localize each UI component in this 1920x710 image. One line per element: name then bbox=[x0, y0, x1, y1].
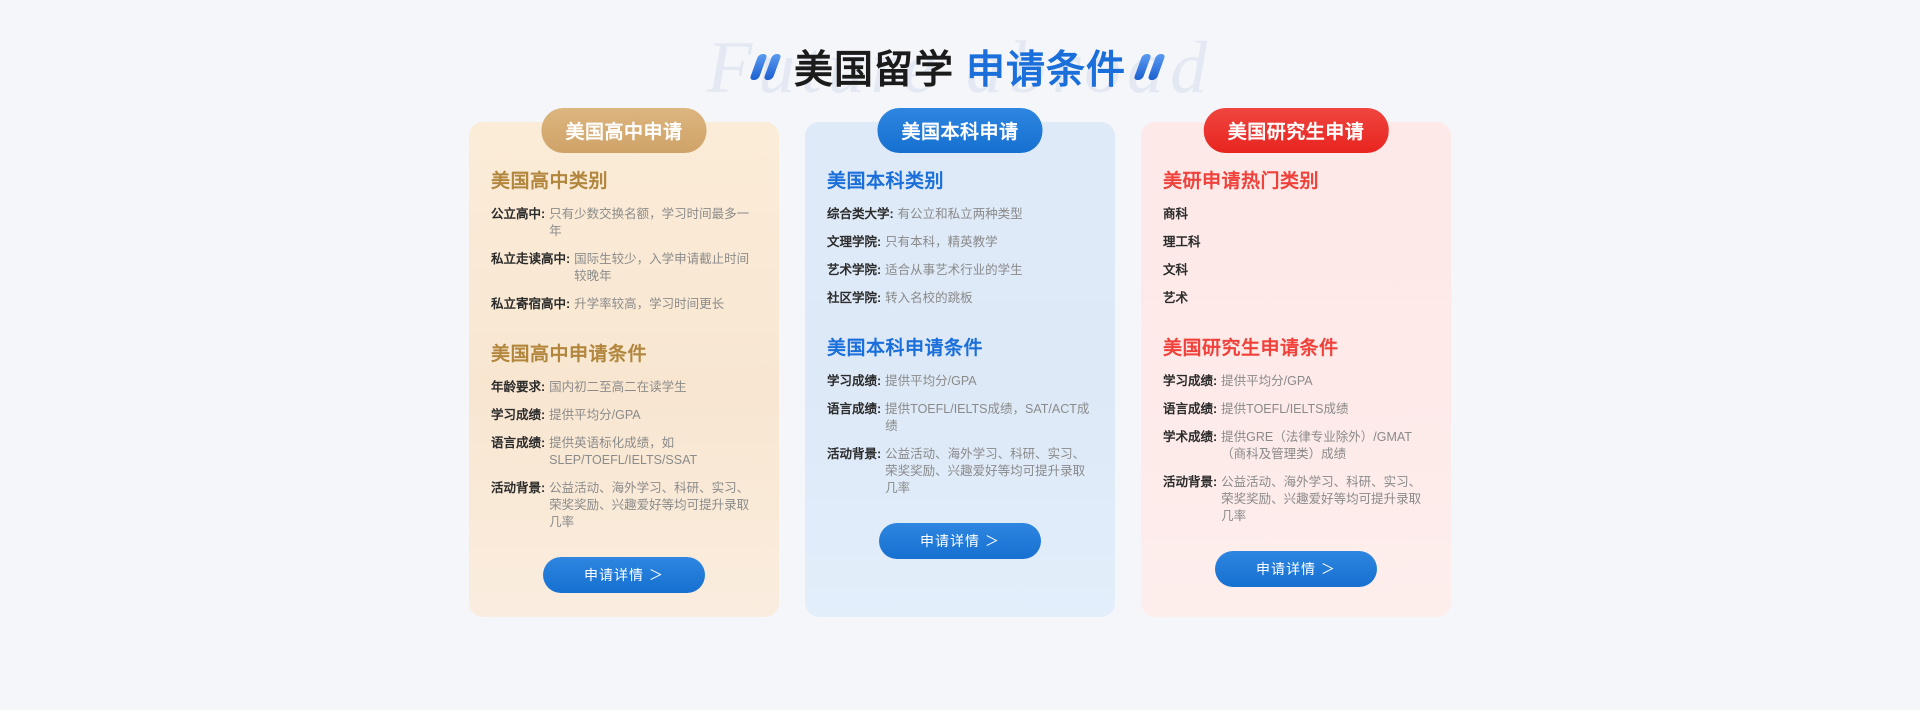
list-item: 文理学院:只有本科，精英教学 bbox=[827, 234, 1093, 251]
list-item-key: 语言成绩: bbox=[827, 401, 881, 435]
list-item-value: 提供GRE（法律专业除外）/GMAT（商科及管理类）成绩 bbox=[1217, 429, 1429, 463]
page-root: Future abroad 美国留学 申请条件 美国高中申请美国高中类别公立高中… bbox=[0, 0, 1920, 710]
list-item-key: 综合类大学: bbox=[827, 206, 894, 223]
list-item-value: 提供英语标化成绩，如SLEP/TOEFL/IELTS/SSAT bbox=[545, 435, 757, 469]
section-title: 美国研究生申请条件 bbox=[1163, 333, 1429, 360]
list-item-key: 艺术 bbox=[1163, 290, 1188, 307]
list-item-key: 文理学院: bbox=[827, 234, 881, 251]
list-item-key: 活动背景: bbox=[1163, 474, 1217, 525]
card-badge[interactable]: 美国研究生申请 bbox=[1204, 108, 1389, 153]
page-title-main: 美国留学 bbox=[794, 39, 954, 95]
list-item-key: 语言成绩: bbox=[491, 435, 545, 469]
list-item-value: 国内初二至高二在读学生 bbox=[545, 379, 687, 396]
list-item-key: 活动背景: bbox=[827, 446, 881, 497]
list-item-key: 年龄要求: bbox=[491, 379, 545, 396]
list-item: 私立寄宿高中:升学率较高，学习时间更长 bbox=[491, 296, 757, 313]
list-item: 学术成绩:提供GRE（法律专业除外）/GMAT（商科及管理类）成绩 bbox=[1163, 429, 1429, 463]
card-badge[interactable]: 美国高中申请 bbox=[541, 108, 706, 153]
list-item-key: 学习成绩: bbox=[1163, 373, 1217, 390]
list-item: 文科 bbox=[1163, 262, 1429, 279]
apply-details-button[interactable]: 申请详情 ＞ bbox=[1215, 551, 1377, 587]
list-item-value: 提供TOEFL/IELTS成绩 bbox=[1217, 401, 1348, 418]
list-item: 艺术 bbox=[1163, 290, 1429, 307]
list-item: 学习成绩:提供平均分/GPA bbox=[827, 373, 1093, 390]
application-card: 美国本科申请美国本科类别综合类大学:有公立和私立两种类型文理学院:只有本科，精英… bbox=[805, 122, 1115, 617]
application-card: 美国研究生申请美研申请热门类别商科理工科文科艺术美国研究生申请条件学习成绩:提供… bbox=[1141, 122, 1451, 617]
apply-details-button[interactable]: 申请详情 ＞ bbox=[543, 557, 705, 593]
quote-mark-right-icon bbox=[1138, 54, 1166, 80]
list-item: 年龄要求:国内初二至高二在读学生 bbox=[491, 379, 757, 396]
list-item: 活动背景:公益活动、海外学习、科研、实习、荣奖奖励、兴趣爱好等均可提升录取几率 bbox=[827, 446, 1093, 497]
section-title: 美国本科申请条件 bbox=[827, 333, 1093, 360]
list-item: 商科 bbox=[1163, 206, 1429, 223]
list-item-key: 语言成绩: bbox=[1163, 401, 1217, 418]
list-item-key: 公立高中: bbox=[491, 206, 545, 240]
list-item: 艺术学院:适合从事艺术行业的学生 bbox=[827, 262, 1093, 279]
list-item: 私立走读高中:国际生较少，入学申请截止时间较晚年 bbox=[491, 251, 757, 285]
list-item-value: 提供平均分/GPA bbox=[1217, 373, 1312, 390]
list-item-key: 活动背景: bbox=[491, 480, 545, 531]
list-item-key: 学术成绩: bbox=[1163, 429, 1217, 463]
list-item: 语言成绩:提供TOEFL/IELTS成绩，SAT/ACT成绩 bbox=[827, 401, 1093, 435]
list-item-value: 适合从事艺术行业的学生 bbox=[881, 262, 1023, 279]
card-footer: 申请详情 ＞ bbox=[1163, 551, 1429, 587]
list-item-key: 艺术学院: bbox=[827, 262, 881, 279]
list-item-key: 社区学院: bbox=[827, 290, 881, 307]
list-item-value: 提供平均分/GPA bbox=[545, 407, 640, 424]
list-item: 语言成绩:提供英语标化成绩，如SLEP/TOEFL/IELTS/SSAT bbox=[491, 435, 757, 469]
page-title: 美国留学 申请条件 bbox=[754, 39, 1166, 95]
list-item: 社区学院:转入名校的跳板 bbox=[827, 290, 1093, 307]
list-item: 语言成绩:提供TOEFL/IELTS成绩 bbox=[1163, 401, 1429, 418]
cards-container: 美国高中申请美国高中类别公立高中:只有少数交换名额，学习时间最多一年私立走读高中… bbox=[0, 108, 1920, 617]
list-item-key: 商科 bbox=[1163, 206, 1188, 223]
application-card: 美国高中申请美国高中类别公立高中:只有少数交换名额，学习时间最多一年私立走读高中… bbox=[469, 122, 779, 617]
section-title: 美研申请热门类别 bbox=[1163, 166, 1429, 193]
list-item: 理工科 bbox=[1163, 234, 1429, 251]
list-item: 学习成绩:提供平均分/GPA bbox=[1163, 373, 1429, 390]
section-title: 美国高中类别 bbox=[491, 166, 757, 193]
list-item-key: 私立走读高中: bbox=[491, 251, 570, 285]
card-footer: 申请详情 ＞ bbox=[827, 523, 1093, 559]
list-item-value: 提供平均分/GPA bbox=[881, 373, 976, 390]
list-item-key: 文科 bbox=[1163, 262, 1188, 279]
list-item: 公立高中:只有少数交换名额，学习时间最多一年 bbox=[491, 206, 757, 240]
list-item-value: 提供TOEFL/IELTS成绩，SAT/ACT成绩 bbox=[881, 401, 1093, 435]
card-badge[interactable]: 美国本科申请 bbox=[877, 108, 1042, 153]
section-title: 美国高中申请条件 bbox=[491, 339, 757, 366]
card-footer: 申请详情 ＞ bbox=[491, 557, 757, 593]
list-item-value: 公益活动、海外学习、科研、实习、荣奖奖励、兴趣爱好等均可提升录取几率 bbox=[545, 480, 757, 531]
list-item: 活动背景:公益活动、海外学习、科研、实习、荣奖奖励、兴趣爱好等均可提升录取几率 bbox=[491, 480, 757, 531]
quote-mark-left-icon bbox=[754, 54, 782, 80]
page-title-accent: 申请条件 bbox=[966, 39, 1126, 95]
list-item-value: 国际生较少，入学申请截止时间较晚年 bbox=[570, 251, 757, 285]
list-item-value: 公益活动、海外学习、科研、实习、荣奖奖励、兴趣爱好等均可提升录取几率 bbox=[881, 446, 1093, 497]
list-item-value: 升学率较高，学习时间更长 bbox=[570, 296, 724, 313]
list-item-value: 只有少数交换名额，学习时间最多一年 bbox=[545, 206, 757, 240]
page-header: Future abroad 美国留学 申请条件 bbox=[0, 26, 1920, 108]
list-item-key: 学习成绩: bbox=[827, 373, 881, 390]
section-title: 美国本科类别 bbox=[827, 166, 1093, 193]
list-item-value: 公益活动、海外学习、科研、实习、荣奖奖励、兴趣爱好等均可提升录取几率 bbox=[1217, 474, 1429, 525]
list-item-key: 学习成绩: bbox=[491, 407, 545, 424]
list-item-key: 理工科 bbox=[1163, 234, 1201, 251]
list-item-value: 有公立和私立两种类型 bbox=[894, 206, 1023, 223]
list-item-value: 转入名校的跳板 bbox=[881, 290, 973, 307]
list-item-key: 私立寄宿高中: bbox=[491, 296, 570, 313]
list-item: 学习成绩:提供平均分/GPA bbox=[491, 407, 757, 424]
list-item-value: 只有本科，精英教学 bbox=[881, 234, 998, 251]
list-item: 活动背景:公益活动、海外学习、科研、实习、荣奖奖励、兴趣爱好等均可提升录取几率 bbox=[1163, 474, 1429, 525]
list-item: 综合类大学:有公立和私立两种类型 bbox=[827, 206, 1093, 223]
apply-details-button[interactable]: 申请详情 ＞ bbox=[879, 523, 1041, 559]
